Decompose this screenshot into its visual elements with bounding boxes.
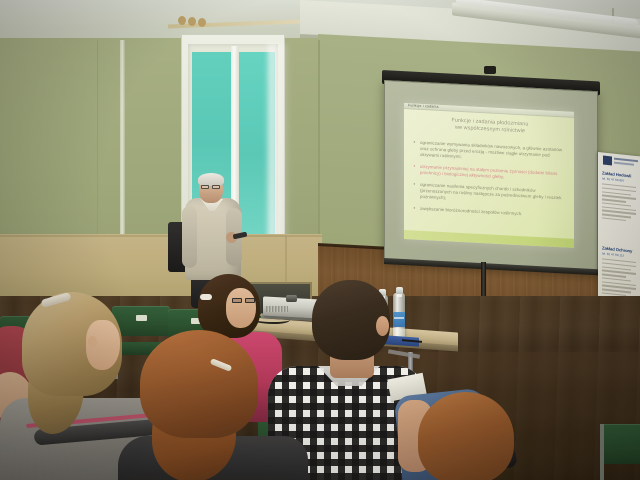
poster-text-block <box>602 258 636 299</box>
curtain-ring <box>188 17 196 26</box>
auburn-woman-hair <box>140 330 258 438</box>
water-bottle <box>393 293 405 339</box>
eyeglasses-icon <box>232 298 256 303</box>
curtain-ring <box>198 18 206 27</box>
curtain-ring <box>178 16 186 25</box>
projector-lens <box>286 295 297 302</box>
presenter-arm-left <box>182 206 197 268</box>
ear <box>376 316 389 336</box>
poster-text-block <box>602 183 636 224</box>
poster-logo-subtext <box>614 162 634 166</box>
screen-border <box>384 80 598 273</box>
poster-logo-icon <box>603 156 612 166</box>
audience-member-face <box>226 288 256 328</box>
classroom-photo: Funkcje i zadania Funkcje i zadania płod… <box>0 0 640 480</box>
screen-case-knob <box>484 66 496 74</box>
wall-pipe <box>120 40 125 240</box>
hair-clip <box>200 294 212 300</box>
wall-seam-line <box>97 40 98 245</box>
ear <box>88 336 97 348</box>
auburn-hair-woman-right <box>418 392 514 480</box>
presenter-glasses-icon <box>201 185 221 189</box>
projector-vent <box>266 306 288 312</box>
